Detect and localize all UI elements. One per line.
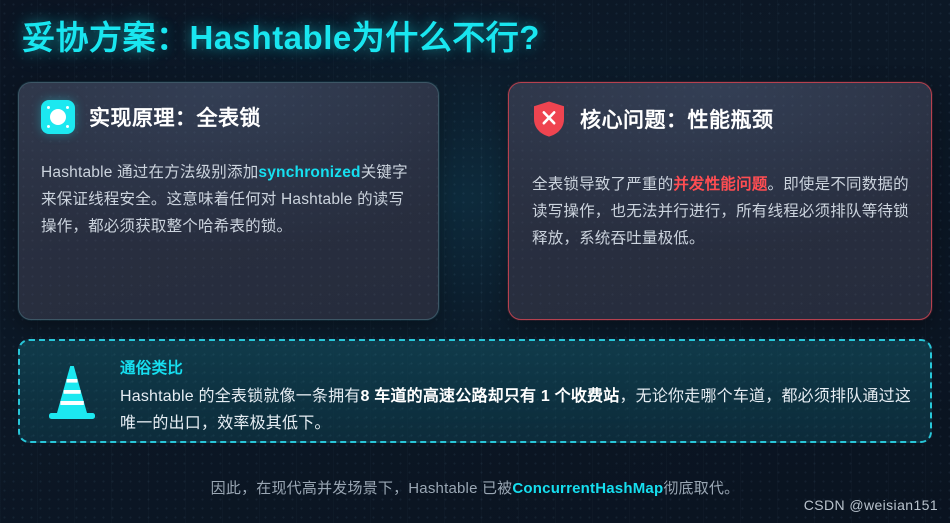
table-lock-icon-center [50, 109, 66, 125]
footer-part1: 因此，在现代高并发场景下，Hashtable 已被 [211, 480, 513, 497]
table-lock-icon-dot-tl [47, 106, 50, 109]
card-core-problem: 核心问题：性能瓶颈 全表锁导致了严重的并发性能问题。即使是不同数据的读写操作，也… [508, 82, 932, 320]
table-lock-icon-dot-bl [47, 125, 50, 128]
csdn-watermark: CSDN @weisian151 [804, 497, 938, 513]
card-right-body: 全表锁导致了严重的并发性能问题。即使是不同数据的读写操作，也无法并行进行，所有线… [532, 171, 915, 252]
shield-x-icon [532, 100, 566, 138]
footer-conclusion: 因此，在现代高并发场景下，Hashtable 已被ConcurrentHashM… [0, 477, 950, 498]
card-left-header: 实现原理：全表锁 [41, 100, 261, 134]
card-left-body: Hashtable 通过在方法级别添加synchronized关键字来保证线程安… [41, 159, 418, 240]
table-lock-icon-dot-br [66, 125, 69, 128]
card-implementation-principle: 实现原理：全表锁 Hashtable 通过在方法级别添加synchronized… [18, 82, 439, 320]
card-left-body-highlight: synchronized [258, 164, 360, 181]
card-right-header: 核心问题：性能瓶颈 [532, 100, 774, 138]
footer-part2: 彻底取代。 [663, 480, 739, 497]
footer-highlight: ConcurrentHashMap [512, 480, 663, 497]
analogy-content: 通俗类比 Hashtable 的全表锁就像一条拥有8 车道的高速公路却只有 1 … [46, 357, 912, 437]
analogy-text-block: 通俗类比 Hashtable 的全表锁就像一条拥有8 车道的高速公路却只有 1 … [120, 357, 912, 437]
analogy-body: Hashtable 的全表锁就像一条拥有8 车道的高速公路却只有 1 个收费站，… [120, 383, 912, 437]
card-right-title: 核心问题：性能瓶颈 [580, 104, 774, 134]
page-title: 妥协方案：Hashtable为什么不行? [22, 11, 540, 59]
card-analogy: 通俗类比 Hashtable 的全表锁就像一条拥有8 车道的高速公路却只有 1 … [18, 339, 932, 443]
card-left-body-part1: Hashtable 通过在方法级别添加 [41, 164, 258, 181]
analogy-body-part1: Hashtable 的全表锁就像一条拥有 [120, 388, 361, 405]
analogy-heading: 通俗类比 [120, 358, 912, 380]
traffic-cone-icon [46, 360, 98, 422]
analogy-body-highlight: 8 车道的高速公路却只有 1 个收费站 [361, 388, 620, 405]
table-lock-icon-dot-tr [66, 106, 69, 109]
card-left-title: 实现原理：全表锁 [89, 102, 261, 132]
slide-root: 妥协方案：Hashtable为什么不行? 实现原理：全表锁 Hashtable … [0, 0, 950, 523]
card-right-body-part1: 全表锁导致了严重的 [532, 176, 673, 193]
table-lock-icon [41, 100, 75, 134]
card-right-body-highlight: 并发性能问题 [673, 176, 767, 193]
